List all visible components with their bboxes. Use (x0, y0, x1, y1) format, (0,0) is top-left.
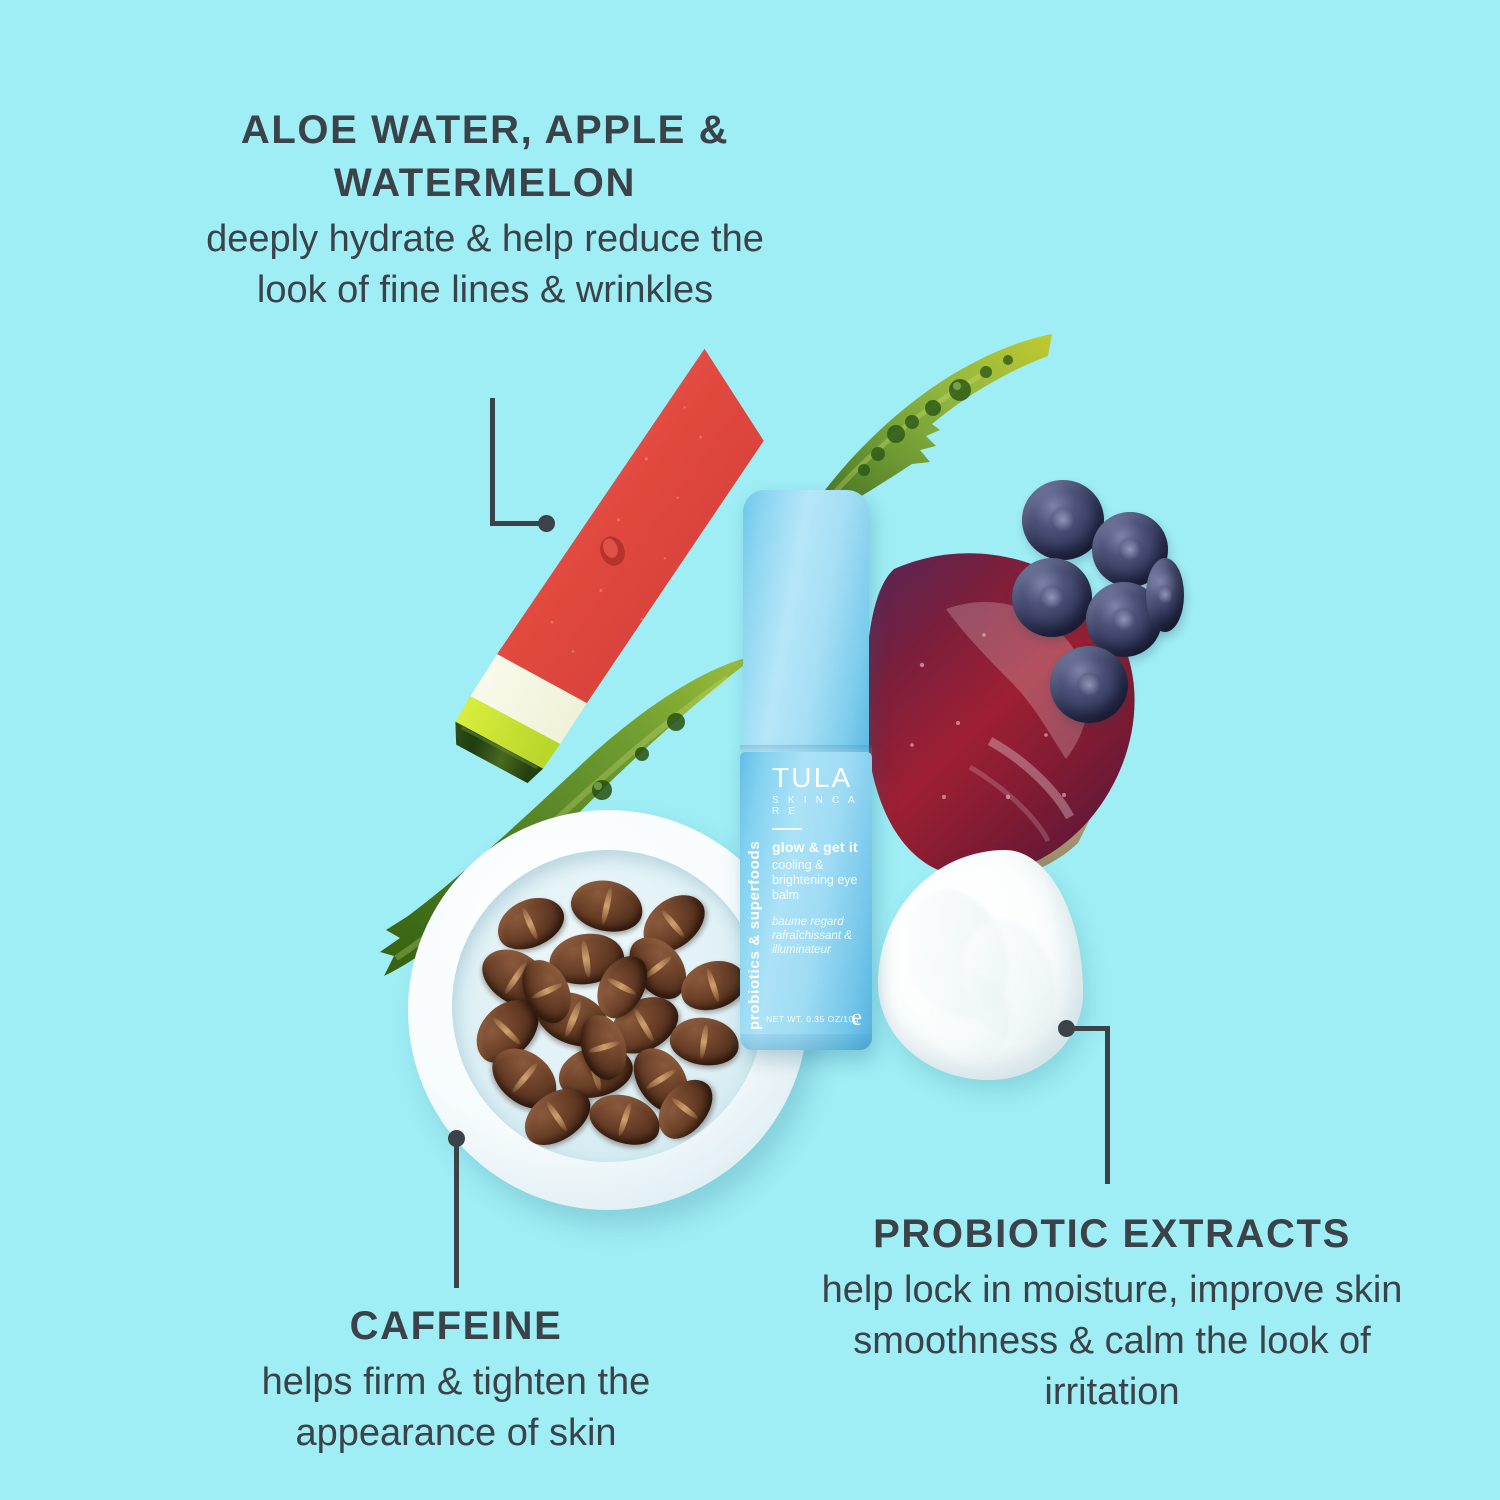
brand-name: TULA (772, 764, 868, 792)
caption-headline: CAFFEINE (196, 1300, 716, 1353)
tube-bottom-band (740, 1034, 872, 1050)
blueberry-image (1050, 646, 1128, 723)
product-description-french: baume regard rafraîchissant & illuminate… (772, 916, 868, 957)
brand-subtitle: S K I N C A R E (772, 795, 868, 817)
tube-cap (743, 490, 869, 760)
leader-line-probiotic (1058, 1020, 1118, 1185)
leader-line-aloe (490, 398, 570, 538)
bowl-interior (452, 850, 764, 1162)
caption-headline: PROBIOTIC EXTRACTS (812, 1208, 1412, 1261)
leader-segment-vertical (1105, 1026, 1110, 1184)
tube-body: probiotics & superfoods TULA S K I N C A… (740, 752, 872, 1050)
blueberry-image (1146, 558, 1184, 632)
blueberry-image (1012, 558, 1092, 637)
label-divider (772, 828, 802, 830)
caption-headline: ALOE WATER, APPLE & WATERMELON (205, 104, 765, 210)
caption-body: help lock in moisture, improve skin smoo… (812, 1265, 1412, 1418)
leader-line-caffeine (448, 1130, 468, 1290)
estimated-sign-icon: e (851, 1006, 862, 1030)
product-description: cooling & brightening eye balm (772, 858, 868, 903)
net-weight-text: NET WT. 0.35 OZ/10g (766, 1014, 859, 1024)
product-ingredient-infographic: probiotics & superfoods TULA S K I N C A… (0, 0, 1500, 1500)
product-name: glow & get it (772, 840, 868, 856)
caption-body: deeply hydrate & help reduce the look of… (205, 214, 765, 316)
caption-caffeine: CAFFEINE helps firm & tighten the appear… (196, 1300, 716, 1459)
leader-segment-vertical (454, 1138, 459, 1288)
product-label-main: TULA S K I N C A R E glow & get it cooli… (772, 764, 868, 957)
product-photo-composition: probiotics & superfoods TULA S K I N C A… (350, 330, 1180, 1190)
product-side-text: probiotics & superfoods (746, 768, 763, 1030)
cream-swatch-image (878, 850, 1083, 1080)
leader-dot (538, 515, 555, 532)
product-tube[interactable]: probiotics & superfoods TULA S K I N C A… (740, 490, 872, 1050)
caption-aloe-water-apple-watermelon: ALOE WATER, APPLE & WATERMELON deeply hy… (205, 104, 765, 315)
leader-segment-horizontal (1066, 1026, 1110, 1031)
leader-segment-vertical (490, 398, 495, 526)
caption-body: helps firm & tighten the appearance of s… (196, 1357, 716, 1459)
caption-probiotic-extracts: PROBIOTIC EXTRACTS help lock in moisture… (812, 1208, 1412, 1418)
